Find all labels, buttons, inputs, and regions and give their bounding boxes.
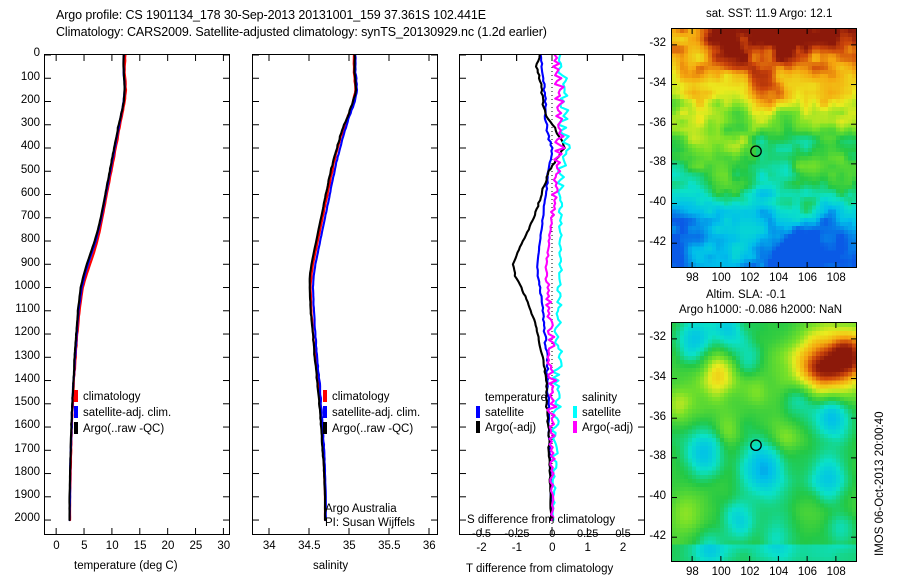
temperature-legend: climatology satellite-adj. clim. Argo(..… <box>74 390 171 435</box>
difference-panel <box>459 54 645 535</box>
legend-item-satellite-sal: satellite-adj. clim. <box>323 406 420 419</box>
legend-swatch-sal-argo <box>573 421 577 433</box>
tick-label: 1100 <box>15 303 40 315</box>
tick-label: 25 <box>189 540 202 552</box>
temperature-panel <box>44 54 230 535</box>
legend-label-climatology-sal: climatology <box>332 391 390 403</box>
tick-label: -32 <box>649 331 666 343</box>
tick-label: 500 <box>21 164 40 176</box>
legend-swatch-climatology-sal <box>323 390 327 402</box>
legend-swatch-argo-sal <box>323 422 327 434</box>
salinity-legend: climatology satellite-adj. clim. Argo(..… <box>323 390 420 435</box>
tick-label: 106 <box>798 272 817 284</box>
sla-map-title-line2: Argo h1000: -0.086 h2000: NaN <box>679 304 842 316</box>
salinity-plot-area <box>253 55 437 534</box>
tick-label: 35 <box>343 540 356 552</box>
legend-label-temp-argo: Argo(-adj) <box>485 422 536 434</box>
tick-label: 1500 <box>14 396 40 408</box>
tick-label: 34 <box>263 540 276 552</box>
tick-label: 1800 <box>14 466 40 478</box>
salinity-panel <box>252 54 438 535</box>
tick-label: 1 <box>584 542 590 554</box>
legend-label-satellite: satellite-adj. clim. <box>83 407 171 419</box>
legend-swatch-satellite-sal <box>323 406 327 418</box>
sla-map <box>671 322 857 562</box>
tick-label: 300 <box>21 117 40 129</box>
tick-label: 108 <box>827 566 846 578</box>
tick-label: 800 <box>21 233 40 245</box>
tick-label: 20 <box>162 540 175 552</box>
tick-label: -38 <box>649 156 666 168</box>
legend-label-climatology: climatology <box>83 391 141 403</box>
sst-map-title: sat. SST: 11.9 Argo: 12.1 <box>706 8 832 20</box>
legend-swatch-climatology <box>74 390 78 402</box>
tick-label: 34.5 <box>298 540 320 552</box>
legend-label-temp-satellite: satellite <box>485 407 524 419</box>
tick-label: -42 <box>649 236 666 248</box>
tick-label: -34 <box>649 77 666 89</box>
tick-label: 600 <box>21 187 40 199</box>
tick-label: 700 <box>21 210 40 222</box>
tick-label: 100 <box>21 71 40 83</box>
sst-map-canvas <box>672 29 856 267</box>
tick-label: 100 <box>712 272 731 284</box>
tick-label: 102 <box>740 566 759 578</box>
legend-label-sal-argo: Argo(-adj) <box>582 422 633 434</box>
tick-label: 200 <box>21 94 40 106</box>
tick-label: 108 <box>827 272 846 284</box>
legend-item-temp-argo: Argo(-adj) <box>476 421 547 434</box>
tick-label: 15 <box>134 540 147 552</box>
legend-swatch-temp-argo <box>476 421 480 433</box>
tick-label: 106 <box>798 566 817 578</box>
difference-temperature-axis-label: T difference from climatology <box>466 563 613 575</box>
legend-item-sal-argo: Argo(-adj) <box>573 421 633 434</box>
tick-label: 98 <box>686 272 699 284</box>
difference-salinity-axis-label: S difference from climatology <box>467 514 615 526</box>
legend-item-satellite: satellite-adj. clim. <box>74 406 171 419</box>
legend-label-argo: Argo(..raw -QC) <box>83 423 164 435</box>
tick-label: 36 <box>423 540 436 552</box>
temperature-plot-area <box>45 55 229 534</box>
tick-label: 2000 <box>14 512 40 524</box>
legend-item-argo-sal: Argo(..raw -QC) <box>323 422 420 435</box>
tick-label: -40 <box>649 196 666 208</box>
tick-label: 35.5 <box>378 540 400 552</box>
tick-label: 2 <box>620 542 626 554</box>
tick-label: -40 <box>649 490 666 502</box>
legend-item-sal-satellite: satellite <box>573 406 633 419</box>
tick-label: 104 <box>769 272 788 284</box>
tick-label: 0 <box>53 540 59 552</box>
credit-line1: Argo Australia <box>325 503 397 515</box>
legend-label-argo-sal: Argo(..raw -QC) <box>332 423 413 435</box>
sla-map-canvas <box>672 323 856 561</box>
legend-swatch-satellite <box>74 406 78 418</box>
difference-legend-temperature-group: temperature satellite Argo(-adj) <box>476 392 547 434</box>
tick-label: 0 <box>549 542 555 554</box>
tick-label: 30 <box>217 540 230 552</box>
tick-label: 100 <box>712 566 731 578</box>
tick-label: 104 <box>769 566 788 578</box>
legend-item-argo: Argo(..raw -QC) <box>74 422 171 435</box>
page-title-line2: Climatology: CARS2009. Satellite-adjuste… <box>56 25 547 39</box>
imos-timestamp: IMOS 06-Oct-2013 20:00:40 <box>874 412 886 556</box>
legend-item-temp-satellite: satellite <box>476 406 547 419</box>
legend-item-climatology: climatology <box>74 390 171 403</box>
legend-swatch-temp-satellite <box>476 406 480 418</box>
difference-legend: temperature satellite Argo(-adj) salinit… <box>476 392 633 434</box>
sla-map-title-line1: Altim. SLA: -0.1 <box>706 289 786 301</box>
legend-label-sal-satellite: satellite <box>582 407 621 419</box>
tick-label: -2 <box>476 542 486 554</box>
legend-item-climatology-sal: climatology <box>323 390 420 403</box>
tick-label: 1700 <box>14 443 40 455</box>
legend-swatch-sal-satellite <box>573 406 577 418</box>
tick-label: -36 <box>649 117 666 129</box>
tick-label: -42 <box>649 530 666 542</box>
tick-label: 1000 <box>14 280 40 292</box>
tick-label: -34 <box>649 371 666 383</box>
tick-label: 1300 <box>14 350 40 362</box>
tick-label: 5 <box>81 540 87 552</box>
legend-label-satellite-sal: satellite-adj. clim. <box>332 407 420 419</box>
difference-plot-area <box>460 55 644 534</box>
tick-label: 1200 <box>14 326 40 338</box>
tick-label: -38 <box>649 450 666 462</box>
difference-legend-salinity-group: salinity satellite Argo(-adj) <box>573 392 633 434</box>
tick-label: -32 <box>649 37 666 49</box>
tick-label: -36 <box>649 411 666 423</box>
tick-label: 400 <box>21 140 40 152</box>
tick-label: 98 <box>686 566 699 578</box>
legend-swatch-argo <box>74 422 78 434</box>
tick-label: 1900 <box>14 489 40 501</box>
tick-label: 900 <box>21 257 40 269</box>
tick-label: 0 <box>34 47 40 59</box>
tick-label: 1400 <box>14 373 40 385</box>
credit-line2: PI: Susan Wijffels <box>325 517 415 529</box>
tick-label: 1600 <box>14 419 40 431</box>
temperature-axis-label: temperature (deg C) <box>74 560 178 572</box>
imos-timestamp-container: IMOS 06-Oct-2013 20:00:40 <box>874 556 900 568</box>
salinity-axis-label: salinity <box>313 560 348 572</box>
legend-heading-temperature: temperature <box>485 392 547 404</box>
legend-heading-salinity: salinity <box>582 392 633 404</box>
tick-label: 10 <box>106 540 119 552</box>
tick-label: 102 <box>740 272 759 284</box>
tick-label: -1 <box>512 542 522 554</box>
sst-map <box>671 28 857 268</box>
page-title-line1: Argo profile: CS 1901134_178 30-Sep-2013… <box>56 8 486 22</box>
